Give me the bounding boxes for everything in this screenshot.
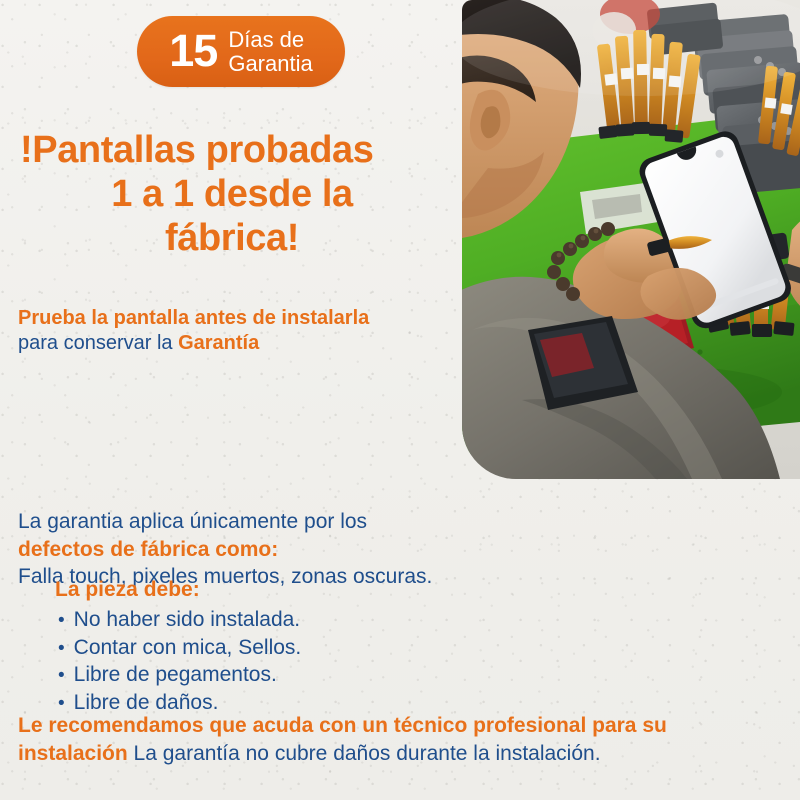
warranty-prefix: La garantia aplica únicamente por los bbox=[18, 508, 782, 536]
bullet-icon: • bbox=[58, 611, 65, 630]
list-item-label: Contar con mica, Sellos. bbox=[74, 634, 302, 662]
promotional-poster: 15 Días de Garantia !Pantallas probadas … bbox=[0, 0, 800, 800]
subheadline-prefix: para conservar la bbox=[18, 332, 178, 354]
list-item: • Contar con mica, Sellos. bbox=[58, 634, 301, 662]
list-item: • No haber sido instalada. bbox=[58, 606, 301, 634]
bullet-icon: • bbox=[58, 694, 65, 713]
requirements-heading: La pieza debe: bbox=[55, 578, 200, 602]
page-title: !Pantallas probadas 1 a 1 desde la fábri… bbox=[12, 128, 452, 260]
warranty-days-badge: 15 Días de Garantia bbox=[137, 16, 345, 87]
workbench-photo-illustration bbox=[462, 0, 800, 479]
headline-line-2: 1 a 1 desde la bbox=[12, 172, 452, 216]
badge-label: Días de Garantia bbox=[228, 28, 312, 76]
requirements-list: • No haber sido instalada. • Contar con … bbox=[58, 606, 301, 717]
subheadline-line-2: para conservar la Garantía bbox=[18, 331, 458, 356]
disclaimer-highlight-2: instalación bbox=[18, 742, 128, 765]
installation-disclaimer: Le recomendamos que acuda con un técnico… bbox=[18, 712, 788, 768]
subheadline-highlight: Garantía bbox=[178, 332, 259, 354]
disclaimer-note: La garantía no cubre daños durante la in… bbox=[134, 742, 601, 765]
bullet-icon: • bbox=[58, 666, 65, 685]
workbench-photo bbox=[462, 0, 800, 479]
subheadline: Prueba la pantalla antes de instalarla p… bbox=[18, 306, 458, 356]
badge-label-line1: Días de bbox=[228, 28, 312, 52]
badge-label-line2: Garantia bbox=[228, 52, 312, 76]
headline-line-1: !Pantallas probadas bbox=[12, 128, 452, 172]
headline-line-3: fábrica! bbox=[12, 216, 452, 260]
list-item-label: Libre de pegamentos. bbox=[74, 661, 277, 689]
list-item: • Libre de pegamentos. bbox=[58, 661, 301, 689]
list-item-label: No haber sido instalada. bbox=[74, 606, 300, 634]
disclaimer-highlight-1: Le recomendamos que acuda con un técnico… bbox=[18, 714, 667, 737]
warranty-highlight: defectos de fábrica como: bbox=[18, 538, 278, 561]
badge-days-number: 15 bbox=[169, 28, 217, 75]
subheadline-line-1: Prueba la pantalla antes de instalarla bbox=[18, 306, 458, 331]
bullet-icon: • bbox=[58, 639, 65, 658]
warranty-line-1: La garantia aplica únicamente por los de… bbox=[18, 508, 782, 563]
